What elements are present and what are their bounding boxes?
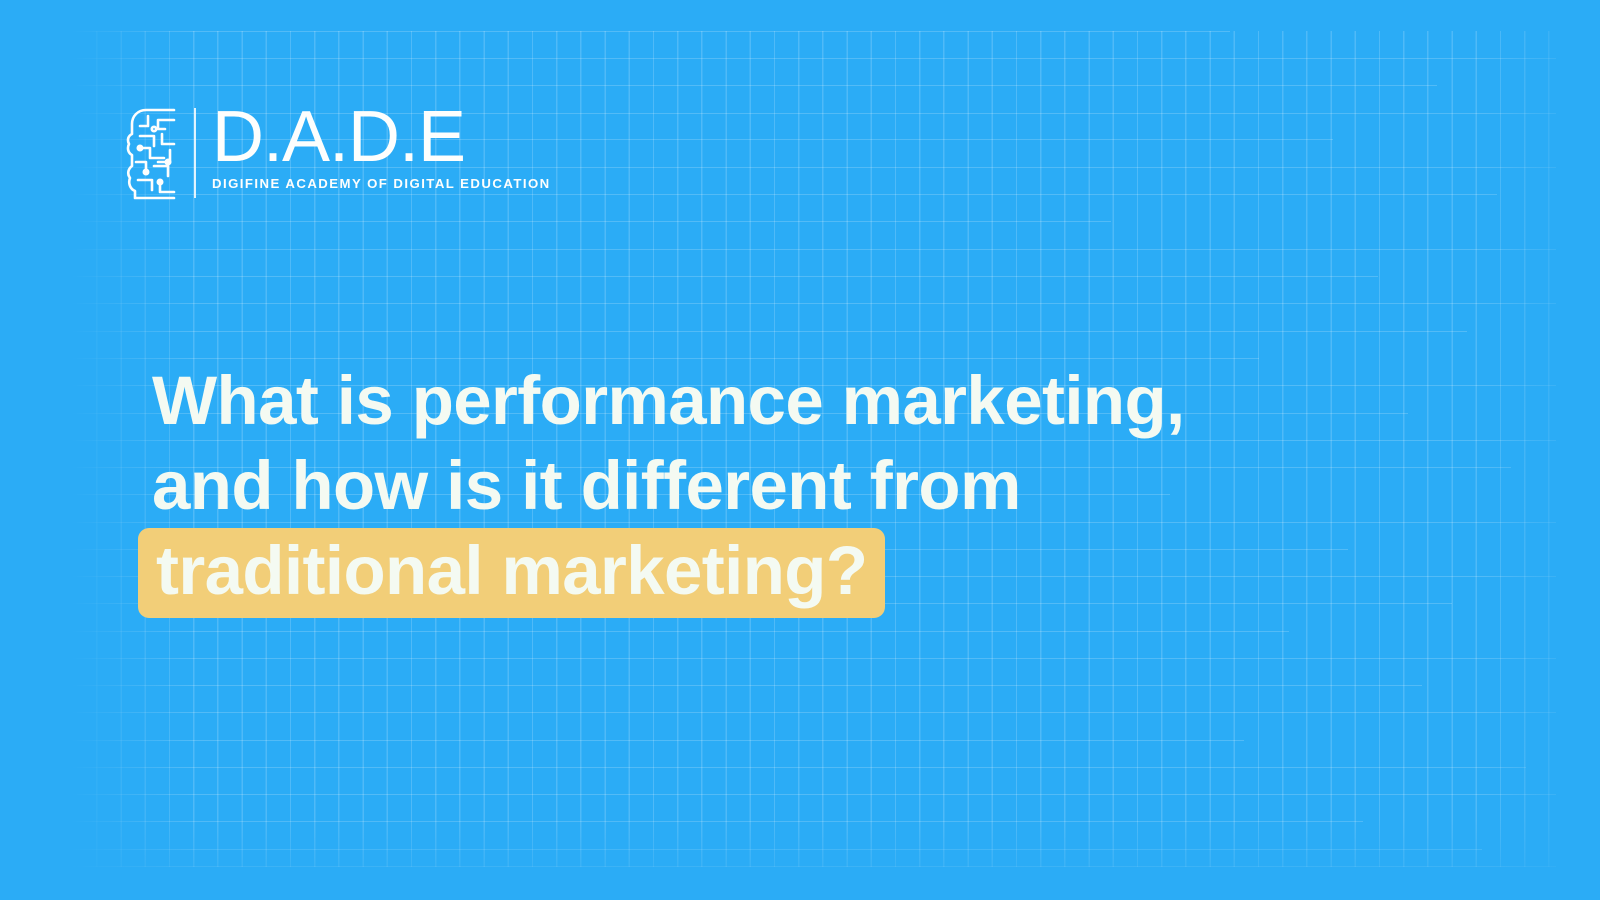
grid-fade-bottom [72, 817, 1556, 900]
logo-wordmark-group: D.A.D.E DIGIFINE ACADEMY OF DIGITAL EDUC… [212, 104, 551, 204]
logo-divider [194, 108, 196, 198]
headline-line-2: and how is it different from [152, 443, 1492, 528]
grid-fade-right [1484, 31, 1600, 867]
logo-wordmark: D.A.D.E [212, 104, 551, 172]
headline-block: What is performance marketing, and how i… [152, 358, 1492, 618]
logo-tagline: DIGIFINE ACADEMY OF DIGITAL EDUCATION [212, 176, 551, 191]
headline-line-1: What is performance marketing, [152, 358, 1492, 443]
brand-logo: D.A.D.E DIGIFINE ACADEMY OF DIGITAL EDUC… [124, 104, 551, 204]
brain-circuit-icon [124, 104, 180, 204]
headline-line-3-highlighted: traditional marketing? [138, 528, 885, 618]
slide-canvas: D.A.D.E DIGIFINE ACADEMY OF DIGITAL EDUC… [0, 0, 1600, 900]
